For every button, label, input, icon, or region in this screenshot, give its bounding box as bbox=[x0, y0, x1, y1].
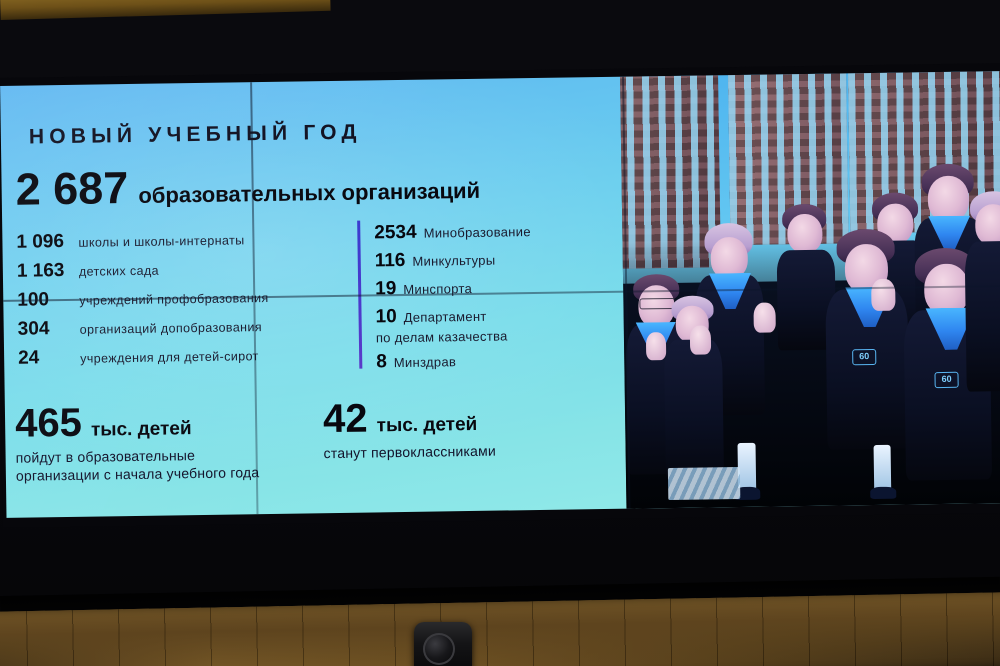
headline-label: образовательных организаций bbox=[138, 178, 480, 208]
uniform-badge-60: 60 bbox=[934, 372, 958, 388]
item-number: 19 bbox=[375, 278, 396, 300]
waving-hand bbox=[646, 332, 666, 360]
list-item: 1 163 детских сада bbox=[17, 256, 357, 283]
item-number: 1 096 bbox=[16, 231, 78, 254]
headline: 2 687образовательных организаций bbox=[15, 157, 480, 216]
waving-hand bbox=[871, 279, 895, 311]
item-number: 1 163 bbox=[17, 260, 79, 283]
list-item: 304 организаций допобразования bbox=[18, 314, 358, 341]
slide-text-area: НОВЫЙ УЧЕБНЫЙ ГОД 2 687образовательных о… bbox=[0, 77, 626, 518]
item-number: 24 bbox=[18, 347, 80, 370]
photo-sock bbox=[737, 443, 756, 491]
item-label: организаций допобразования bbox=[80, 320, 262, 337]
item-label-continued: по делам казачества bbox=[376, 327, 626, 346]
item-number: 2534 bbox=[374, 222, 417, 245]
list-item: 19 Минспорта bbox=[375, 275, 625, 301]
item-number: 116 bbox=[375, 250, 406, 272]
item-label: школы и школы-интернаты bbox=[78, 233, 244, 249]
item-label: учреждения для детей-сирот bbox=[80, 349, 259, 366]
stat-unit: тыс. детей bbox=[91, 418, 192, 441]
uniform-badge-60: 60 bbox=[852, 349, 876, 365]
waving-hand bbox=[753, 302, 775, 332]
item-number: 10 bbox=[375, 306, 396, 328]
photo-bag bbox=[668, 467, 740, 500]
list-item: 24 учреждения для детей-сирот bbox=[18, 343, 358, 370]
list-item: 2534 Минобразование bbox=[374, 219, 624, 245]
list-item: 1 096 школы и школы-интернаты bbox=[16, 227, 356, 254]
waving-hand bbox=[690, 325, 711, 354]
breakdown-column-right: 2534 Минобразование 116 Минкультуры 19 М… bbox=[374, 219, 626, 380]
item-label: Минобразование bbox=[424, 224, 531, 241]
headline-number: 2 687 bbox=[15, 162, 128, 215]
video-wall-screen: 60 60 bbox=[0, 63, 1000, 528]
stat-description: станут первоклассниками bbox=[323, 441, 593, 463]
item-label: Минкультуры bbox=[412, 253, 495, 269]
item-label: Департамент bbox=[404, 309, 487, 325]
list-item: 8 Минздрав bbox=[376, 348, 626, 374]
photo-sock bbox=[874, 445, 892, 491]
stat-unit: тыс. детей bbox=[377, 414, 478, 437]
list-item: 10 Департамент bbox=[375, 303, 625, 329]
stat-block-firstgraders: 42 тыс. детей станут первоклассниками bbox=[323, 395, 594, 462]
item-number: 304 bbox=[18, 318, 80, 341]
presentation-slide: 60 60 bbox=[0, 71, 1000, 518]
stat-number: 42 bbox=[323, 399, 368, 440]
screenshot-root: 60 60 bbox=[0, 0, 1000, 666]
glasses-icon bbox=[639, 298, 675, 310]
item-label: детских сада bbox=[79, 264, 159, 279]
conference-camera bbox=[414, 622, 472, 666]
stat-description: пойдут в образовательные организации с н… bbox=[16, 446, 266, 485]
stat-block-enrollment: 465 тыс. детей пойдут в образовательные … bbox=[15, 400, 266, 485]
photo-shoe bbox=[870, 487, 896, 499]
list-item: 116 Минкультуры bbox=[375, 247, 625, 273]
item-label: Минздрав bbox=[394, 354, 457, 370]
stat-number: 465 bbox=[15, 403, 82, 444]
breakdown-column-left: 1 096 школы и школы-интернаты 1 163 детс… bbox=[16, 227, 358, 377]
item-number: 8 bbox=[376, 351, 387, 373]
slide-title: НОВЫЙ УЧЕБНЫЙ ГОД bbox=[29, 121, 362, 150]
